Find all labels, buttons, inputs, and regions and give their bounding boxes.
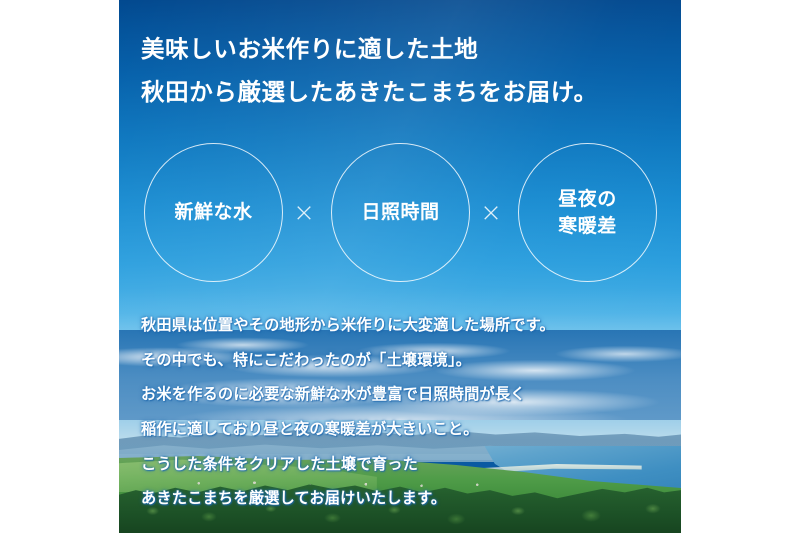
body-line-1: 秋田県は位置やその地形から米作りに大変適した場所です。 xyxy=(141,308,661,343)
body-line-6: あきたこまちを厳選してお届けいたします。 xyxy=(141,481,661,516)
factor-label-fresh-water: 新鮮な水 xyxy=(174,199,252,226)
factor-circle-sunshine-hours: 日照時間 xyxy=(331,143,470,282)
headline-line-1: 美味しいお米作りに適した土地 xyxy=(141,28,661,71)
factor-label-temperature-difference: 昼夜の 寒暖差 xyxy=(558,186,617,239)
factor-circle-fresh-water: 新鮮な水 xyxy=(144,143,283,282)
factor-label-sunshine-hours: 日照時間 xyxy=(361,199,439,226)
body-line-3: お米を作るのに必要な新鮮な水が豊富で日照時間が長く xyxy=(141,377,661,412)
body-line-5: こうした条件をクリアした土壌で育った xyxy=(141,447,661,482)
body-line-4: 稲作に適しており昼と夜の寒暖差が大きいこと。 xyxy=(141,412,661,447)
headline-line-2: 秋田から厳選したあきたこまちをお届け。 xyxy=(141,71,661,114)
body-copy: 秋田県は位置やその地形から米作りに大変適した場所です。 その中でも、特にこだわっ… xyxy=(141,308,661,516)
factor-circles-row: 新鮮な水 日照時間 昼夜の 寒暖差 × × xyxy=(119,143,681,288)
multiply-icon-2: × xyxy=(477,199,505,227)
multiply-icon-1: × xyxy=(290,199,318,227)
factor-circle-temperature-difference: 昼夜の 寒暖差 xyxy=(518,143,657,282)
body-line-2: その中でも、特にこだわったのが「土壌環境」。 xyxy=(141,343,661,378)
headline: 美味しいお米作りに適した土地 秋田から厳選したあきたこまちをお届け。 xyxy=(141,28,661,114)
promotional-banner-image: 美味しいお米作りに適した土地 秋田から厳選したあきたこまちをお届け。 新鮮な水 … xyxy=(119,0,681,533)
screenshot-stage: 美味しいお米作りに適した土地 秋田から厳選したあきたこまちをお届け。 新鮮な水 … xyxy=(0,0,800,533)
